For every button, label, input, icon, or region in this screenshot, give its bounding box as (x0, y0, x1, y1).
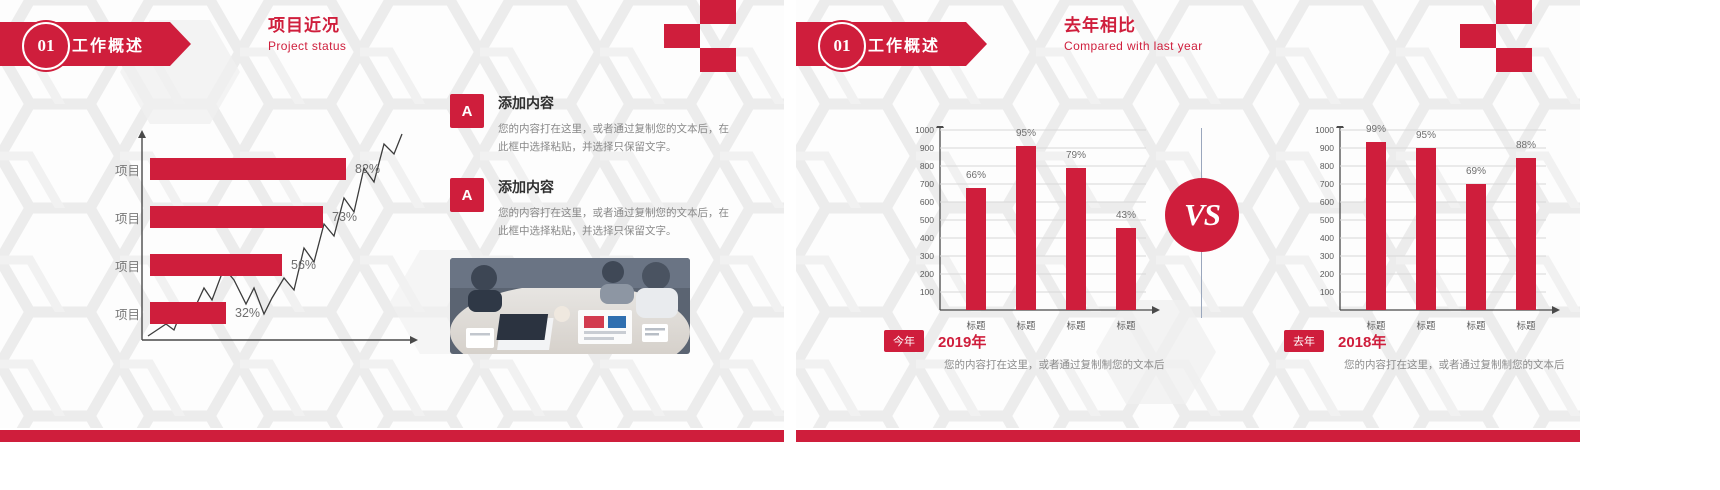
last-year-desc: 您的内容打在这里，或者通过复制制您的文本后 (1344, 356, 1580, 375)
bullet-title: 添加内容 (498, 177, 734, 197)
year-label: 2019年 (938, 331, 986, 352)
bullet-desc: 您的内容打在这里，或者通过复制您的文本后，在此框中选择粘贴，并选择只保留文字。 (498, 120, 734, 157)
y-tick: 100 (1300, 287, 1334, 297)
bar-value-label: 56% (291, 258, 316, 272)
this-year-tag: 今年 2019年 (884, 330, 986, 352)
year-badge: 去年 (1284, 330, 1324, 352)
bar-category-label: 项目 (88, 208, 150, 227)
slide-header-left: 工作概述 01 (0, 22, 170, 66)
slide-deck: 工作概述 01 项目近况 Project status 项目 82% 项 (0, 0, 1720, 490)
content-bullet-1: A 添加内容 您的内容打在这里，或者通过复制您的文本后，在此框中选择粘贴，并选择… (450, 94, 734, 157)
bullet-badge-icon: A (450, 178, 484, 212)
bar-category-label: 项目 (88, 160, 150, 179)
bar-value-label: 88% (1516, 140, 1536, 151)
y-tick: 700 (900, 179, 934, 189)
bar-value-label: 32% (235, 306, 260, 320)
bullet-title: 添加内容 (498, 93, 734, 113)
slide-subtitle-right: 去年相比 Compared with last year (1064, 16, 1203, 53)
header-title: 工作概述 (868, 32, 940, 56)
meeting-photo (450, 258, 690, 354)
x-category-label: 标题 (1016, 318, 1035, 332)
vertical-bar-chart-2019: 1000 900 800 700 600 500 400 300 200 100… (884, 126, 1184, 316)
x-category-label: 标题 (1116, 318, 1135, 332)
bar-row: 项目 73% (88, 206, 357, 228)
bar-fill (150, 158, 346, 180)
x-category-label: 标题 (1066, 318, 1085, 332)
subtitle-en: Project status (268, 39, 346, 53)
subtitle-en: Compared with last year (1064, 39, 1203, 53)
bar-value-label: 95% (1416, 130, 1436, 141)
slide-gap (784, 0, 796, 490)
bar-value-label: 79% (1066, 150, 1086, 161)
bar-category-label: 项目 (88, 256, 150, 275)
year-label: 2018年 (1338, 331, 1386, 352)
this-year-desc: 您的内容打在这里，或者通过复制制您的文本后 (944, 356, 1204, 375)
bar-category-label: 项目 (88, 304, 150, 323)
y-tick: 900 (900, 143, 934, 153)
y-tick: 1000 (1300, 125, 1334, 135)
footer-bar (796, 430, 1580, 442)
y-tick: 400 (900, 233, 934, 243)
y-tick: 500 (900, 215, 934, 225)
bar-value-label: 95% (1016, 128, 1036, 139)
x-category-label: 标题 (1416, 318, 1435, 332)
bar-fill (150, 254, 282, 276)
year-badge: 今年 (884, 330, 924, 352)
footer-bar (0, 430, 784, 442)
bar-row: 项目 82% (88, 158, 380, 180)
deco-squares-right (1460, 0, 1580, 77)
last-year-tag: 去年 2018年 (1284, 330, 1386, 352)
y-tick: 900 (1300, 143, 1334, 153)
y-tick: 300 (1300, 251, 1334, 261)
bar-value-label: 66% (966, 170, 986, 181)
section-number-badge: 01 (818, 22, 866, 70)
x-category-label: 标题 (1466, 318, 1485, 332)
y-tick: 500 (1300, 215, 1334, 225)
vs-badge: VS (1165, 178, 1239, 252)
bullet-badge-icon: A (450, 94, 484, 128)
bar-fill (150, 302, 226, 324)
y-tick: 200 (1300, 269, 1334, 279)
y-tick: 300 (900, 251, 934, 261)
x-category-label: 标题 (1516, 318, 1535, 332)
bar-value-label: 43% (1116, 210, 1136, 221)
y-tick: 800 (900, 161, 934, 171)
y-tick: 800 (1300, 161, 1334, 171)
slide-subtitle-left: 项目近况 Project status (268, 16, 346, 53)
slide-project-status: 工作概述 01 项目近况 Project status 项目 82% 项 (0, 0, 784, 442)
y-tick: 600 (900, 197, 934, 207)
subtitle-cn: 去年相比 (1064, 16, 1203, 36)
horizontal-bar-chart: 项目 82% 项目 73% 项目 56% 项目 32% (88, 128, 418, 360)
y-tick: 200 (900, 269, 934, 279)
content-bullet-2: A 添加内容 您的内容打在这里，或者通过复制您的文本后，在此框中选择粘贴，并选择… (450, 178, 734, 241)
slide-header-right: 工作概述 01 (796, 22, 966, 66)
bar-row: 项目 32% (88, 302, 260, 324)
bar-fill (150, 206, 323, 228)
y-tick: 400 (1300, 233, 1334, 243)
y-tick: 100 (900, 287, 934, 297)
y-tick: 1000 (900, 125, 934, 135)
subtitle-cn: 项目近况 (268, 16, 346, 36)
bar-value-label: 69% (1466, 166, 1486, 177)
bar-row: 项目 56% (88, 254, 316, 276)
y-tick: 700 (1300, 179, 1334, 189)
bar-value-label: 99% (1366, 124, 1386, 135)
deco-squares-left (664, 0, 784, 77)
bar-value-label: 73% (332, 210, 357, 224)
y-tick: 600 (1300, 197, 1334, 207)
section-number-badge: 01 (22, 22, 70, 70)
vertical-bar-chart-2018: 1000 900 800 700 600 500 400 300 200 100… (1284, 126, 1580, 316)
bar-value-label: 82% (355, 162, 380, 176)
bullet-desc: 您的内容打在这里，或者通过复制您的文本后，在此框中选择粘贴，并选择只保留文字。 (498, 204, 734, 241)
slide-compare-last-year: 工作概述 01 去年相比 Compared with last year (796, 0, 1580, 442)
header-title: 工作概述 (72, 32, 144, 56)
